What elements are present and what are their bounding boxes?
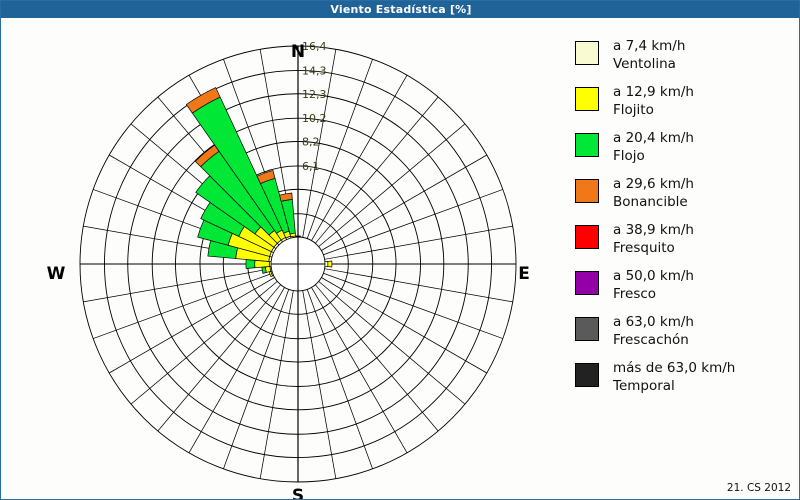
legend-swatch-bonancible <box>575 179 599 203</box>
legend-speed-frescachon: a 63,0 km/h <box>613 314 694 332</box>
legend-label-frescachon: a 63,0 km/hFrescachón <box>613 314 694 349</box>
petal-90-Ventolina <box>325 261 328 266</box>
legend-name-flojo: Flojo <box>613 148 694 166</box>
compass-label-north: N <box>283 42 313 62</box>
compass-label-east: E <box>509 264 539 284</box>
legend-item-bonancible[interactable]: a 29,6 km/hBonancible <box>575 179 795 225</box>
legend-name-flojito: Flojito <box>613 102 694 120</box>
compass-label-south: S <box>283 486 313 500</box>
legend-name-fresco: Fresco <box>613 286 694 304</box>
legend-label-temporal: más de 63,0 km/hTemporal <box>613 360 735 395</box>
legend-swatch-ventolina <box>575 41 599 65</box>
legend-label-fresquito: a 38,9 km/hFresquito <box>613 222 694 257</box>
legend-swatch-fresquito <box>575 225 599 249</box>
legend-label-ventolina: a 7,4 km/hVentolina <box>613 38 685 73</box>
legend-speed-flojo: a 20,4 km/h <box>613 130 694 148</box>
legend-name-fresquito: Fresquito <box>613 240 694 258</box>
legend-name-temporal: Temporal <box>613 378 735 396</box>
legend-swatch-flojo <box>575 133 599 157</box>
wind-rose-svg: 6,18,210,212,314,316,4 <box>1 18 566 500</box>
radial-tick-14,3: 14,3 <box>302 64 327 77</box>
legend-item-frescachon[interactable]: a 63,0 km/hFrescachón <box>575 317 795 363</box>
wind-rose-window: Viento Estadística [%] 6,18,210,212,314,… <box>0 0 800 500</box>
wind-rose-plot: 6,18,210,212,314,316,4 N S E W <box>1 18 566 500</box>
legend-item-fresquito[interactable]: a 38,9 km/hFresquito <box>575 225 795 271</box>
radial-tick-6,1: 6,1 <box>302 160 320 173</box>
window-title-bar: Viento Estadística [%] <box>1 1 800 18</box>
legend-label-flojito: a 12,9 km/hFlojito <box>613 84 694 119</box>
petal-270-Flojo <box>246 259 255 268</box>
legend-speed-ventolina: a 7,4 km/h <box>613 38 685 56</box>
petal-260-Flojo <box>262 267 266 274</box>
legend-swatch-flojito <box>575 87 599 111</box>
radial-tick-10,2: 10,2 <box>302 112 327 125</box>
legend-speed-temporal: más de 63,0 km/h <box>613 360 735 378</box>
legend-speed-fresco: a 50,0 km/h <box>613 268 694 286</box>
legend-name-bonancible: Bonancible <box>613 194 694 212</box>
radial-tick-12,3: 12,3 <box>302 88 327 101</box>
window-title: Viento Estadística [%] <box>330 3 471 16</box>
legend-label-flojo: a 20,4 km/hFlojo <box>613 130 694 165</box>
legend-speed-flojito: a 12,9 km/h <box>613 84 694 102</box>
petal-90-Flojito <box>328 261 332 267</box>
radial-tick-8,2: 8,2 <box>302 136 320 149</box>
polar-grid <box>80 46 516 482</box>
legend-item-ventolina[interactable]: a 7,4 km/hVentolina <box>575 41 795 87</box>
legend-item-temporal[interactable]: más de 63,0 km/hTemporal <box>575 363 795 409</box>
legend-speed-fresquito: a 38,9 km/h <box>613 222 694 240</box>
legend-speed-bonancible: a 29,6 km/h <box>613 176 694 194</box>
legend-label-fresco: a 50,0 km/hFresco <box>613 268 694 303</box>
legend-item-fresco[interactable]: a 50,0 km/hFresco <box>575 271 795 317</box>
legend-label-bonancible: a 29,6 km/hBonancible <box>613 176 694 211</box>
legend: a 7,4 km/hVentolinaa 12,9 km/hFlojitoa 2… <box>575 41 795 409</box>
legend-item-flojito[interactable]: a 12,9 km/hFlojito <box>575 87 795 133</box>
legend-name-ventolina: Ventolina <box>613 56 685 74</box>
legend-swatch-fresco <box>575 271 599 295</box>
footer-date: 21. CS 2012 <box>727 482 791 494</box>
legend-name-frescachon: Frescachón <box>613 332 694 350</box>
petal-0-Flojito <box>296 236 301 237</box>
legend-swatch-frescachon <box>575 317 599 341</box>
legend-item-flojo[interactable]: a 20,4 km/hFlojo <box>575 133 795 179</box>
legend-swatch-temporal <box>575 363 599 387</box>
compass-label-west: W <box>41 264 71 284</box>
